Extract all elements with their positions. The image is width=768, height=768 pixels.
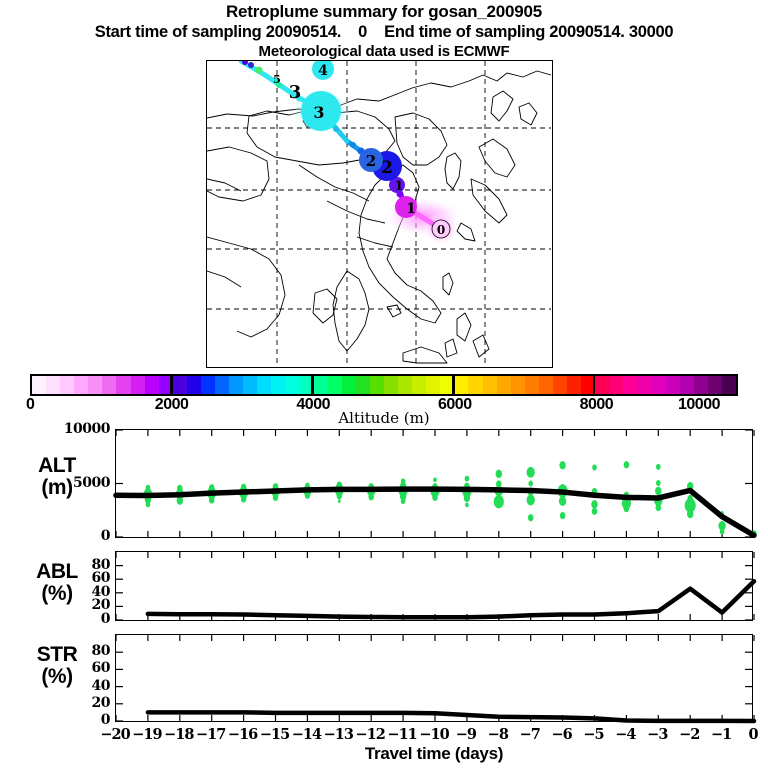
xaxis-tick-labels: −20−19−18−17−16−15−14−13−12−11−10−9−8−7−…: [0, 726, 768, 746]
alt-scatter-point: [687, 510, 693, 518]
xtick-label: −14: [292, 726, 321, 743]
colorbar-swatch: [454, 376, 468, 394]
alt-scatter-point: [656, 480, 661, 486]
alt-scatter-point: [432, 494, 438, 501]
alt-scatter-point: [465, 503, 469, 508]
colorbar-swatch: [708, 376, 722, 394]
svg-text:3: 3: [289, 82, 302, 103]
alt-ytick-labels: 0500010000: [0, 429, 110, 538]
xtick-label: −18: [164, 726, 193, 743]
alt-scatter-point: [401, 498, 406, 504]
xtick-label: 0: [748, 726, 757, 743]
ytick-label: 5000: [73, 475, 110, 491]
ytick-label: 40: [92, 678, 110, 694]
xtick-label: −2: [679, 726, 699, 743]
colorbar-swatch: [497, 376, 511, 394]
alt-scatter-point: [624, 505, 630, 512]
alt-scatter-point: [368, 493, 374, 500]
abl-ytick-labels: 020406080: [0, 551, 110, 621]
colorbar-swatch: [215, 376, 229, 394]
xtick-label: −6: [551, 726, 571, 743]
colorbar-swatch: [483, 376, 497, 394]
svg-text:2: 2: [366, 152, 376, 170]
colorbar-swatch: [314, 376, 328, 394]
alt-scatter-point: [656, 464, 661, 470]
alt-scatter-point: [528, 481, 533, 487]
colorbar-swatch: [60, 376, 74, 394]
map-graticule: [207, 61, 551, 366]
colorbar-swatch: [102, 376, 116, 394]
ytick-label: 40: [92, 584, 110, 600]
alt-scatter-point: [591, 500, 597, 508]
colorbar-swatch: [32, 376, 46, 394]
colorbar-swatch: [722, 376, 736, 394]
alt-scatter-point: [624, 461, 630, 468]
alt-scatter-point: [560, 512, 566, 519]
svg-text:1: 1: [394, 179, 403, 194]
alt-scatter-point: [592, 464, 597, 470]
ytick-label: 80: [92, 557, 110, 573]
colorbar-divider: [593, 374, 596, 396]
alt-scatter-point: [656, 504, 662, 511]
map-coastlines: [207, 71, 551, 363]
svg-text:4: 4: [318, 63, 328, 79]
alt-scatter-point: [433, 477, 437, 482]
retroplume-map-panel[interactable]: 0 1 1 2 2 3 3 4 5: [206, 60, 553, 368]
colorbar-swatch: [285, 376, 299, 394]
alt-scatter-point: [146, 501, 151, 507]
ytick-label: 0: [101, 528, 110, 544]
alt-scatter-point: [273, 494, 279, 501]
alt-scatter-point: [464, 494, 470, 502]
alt-scatter-point: [337, 492, 343, 499]
colorbar-swatch: [145, 376, 159, 394]
svg-text:5: 5: [273, 73, 281, 86]
colorbar-swatch: [201, 376, 215, 394]
alt-scatter-point: [241, 495, 247, 502]
altitude-colorbar[interactable]: [30, 374, 738, 396]
colorbar-swatch: [553, 376, 567, 394]
alt-scatter-point: [655, 487, 661, 495]
colorbar-swatch: [384, 376, 398, 394]
colorbar-swatch: [426, 376, 440, 394]
alt-plot-panel[interactable]: [115, 429, 753, 538]
xtick-label: −4: [615, 726, 635, 743]
ytick-label: 10000: [64, 421, 110, 437]
abl-plot-svg: [116, 552, 752, 620]
colorbar-swatch: [525, 376, 539, 394]
colorbar-swatch: [609, 376, 623, 394]
colorbar-swatch: [651, 376, 665, 394]
str-plot-panel[interactable]: [115, 634, 753, 722]
xtick-label: −16: [228, 726, 257, 743]
colorbar-swatch: [229, 376, 243, 394]
ytick-label: 60: [92, 660, 110, 676]
xtick-label: −5: [583, 726, 603, 743]
str-ytick-labels: 020406080: [0, 634, 110, 722]
abl-plot-panel[interactable]: [115, 551, 753, 621]
alt-scatter-point: [528, 514, 534, 521]
colorbar-divider: [452, 374, 455, 396]
alt-scatter-point: [592, 508, 598, 515]
colorbar-swatch: [539, 376, 553, 394]
alt-scatter-point: [494, 495, 504, 508]
page-title: Retroplume summary for gosan_200905: [0, 2, 768, 22]
colorbar-swatch: [328, 376, 342, 394]
colorbar-swatch: [370, 376, 384, 394]
colorbar-swatch: [88, 376, 102, 394]
colorbar-swatch: [46, 376, 60, 394]
header-block: Retroplume summary for gosan_200905 Star…: [0, 2, 768, 61]
alt-scatter-point: [496, 470, 502, 478]
xtick-label: −9: [456, 726, 476, 743]
colorbar-swatch: [131, 376, 145, 394]
colorbar-swatch: [623, 376, 637, 394]
alt-scatter-point: [527, 495, 535, 506]
xtick-label: −10: [419, 726, 448, 743]
colorbar-swatch: [116, 376, 130, 394]
xtick-label: −12: [356, 726, 385, 743]
colorbar-swatch: [694, 376, 708, 394]
svg-text:3: 3: [313, 103, 324, 122]
alt-scatter-point: [465, 476, 470, 482]
xtick-label: −11: [387, 726, 416, 743]
sampling-time-line: Start time of sampling 20090514. 0 End t…: [0, 22, 768, 42]
alt-scatter-point: [720, 529, 725, 535]
colorbar-swatch: [187, 376, 201, 394]
colorbar-swatch: [243, 376, 257, 394]
colorbar-axis-label: Altitude (m): [0, 409, 768, 427]
xtick-label: −7: [520, 726, 540, 743]
colorbar-swatch: [468, 376, 482, 394]
ytick-label: 0: [101, 611, 110, 627]
map-svg: 0 1 1 2 2 3 3 4 5: [207, 61, 551, 366]
xaxis-label: Travel time (days): [115, 744, 753, 764]
alt-scatter-point: [559, 496, 566, 506]
alt-scatter-point: [527, 467, 535, 478]
xtick-label: −20: [100, 726, 129, 743]
plume-particles: [242, 61, 417, 217]
colorbar-swatch: [595, 376, 609, 394]
colorbar-swatch: [511, 376, 525, 394]
colorbar-swatch: [271, 376, 285, 394]
colorbar-swatch: [257, 376, 271, 394]
xtick-label: −13: [324, 726, 353, 743]
alt-scatter-point: [338, 499, 341, 503]
svg-text:0: 0: [437, 223, 445, 237]
colorbar-swatch: [173, 376, 187, 394]
abl-line: [148, 581, 754, 617]
alt-scatter-point: [209, 496, 215, 503]
colorbar-swatch: [342, 376, 356, 394]
colorbar-swatch: [567, 376, 581, 394]
colorbar-swatch: [680, 376, 694, 394]
colorbar-divider: [311, 374, 314, 396]
str-plot-svg: [116, 635, 752, 721]
str-line: [148, 712, 754, 721]
colorbar-divider: [170, 374, 173, 396]
alt-scatter-point: [305, 492, 311, 499]
svg-text:1: 1: [406, 201, 416, 217]
xtick-label: −15: [260, 726, 289, 743]
xtick-label: −1: [711, 726, 731, 743]
colorbar-swatch: [637, 376, 651, 394]
xtick-label: −8: [488, 726, 508, 743]
colorbar-swatch: [666, 376, 680, 394]
met-data-line: Meteorological data used is ECMWF: [0, 42, 768, 61]
colorbar-swatch: [356, 376, 370, 394]
alt-scatter-point: [177, 496, 183, 504]
ytick-label: 80: [92, 643, 110, 659]
alt-scatter-point: [559, 461, 565, 469]
xtick-label: −3: [647, 726, 667, 743]
alt-plot-svg: [116, 430, 752, 537]
ytick-label: 20: [92, 695, 110, 711]
colorbar-swatch: [74, 376, 88, 394]
colorbar-swatch: [398, 376, 412, 394]
colorbar-swatch: [412, 376, 426, 394]
xtick-label: −19: [132, 726, 161, 743]
xtick-label: −17: [196, 726, 225, 743]
